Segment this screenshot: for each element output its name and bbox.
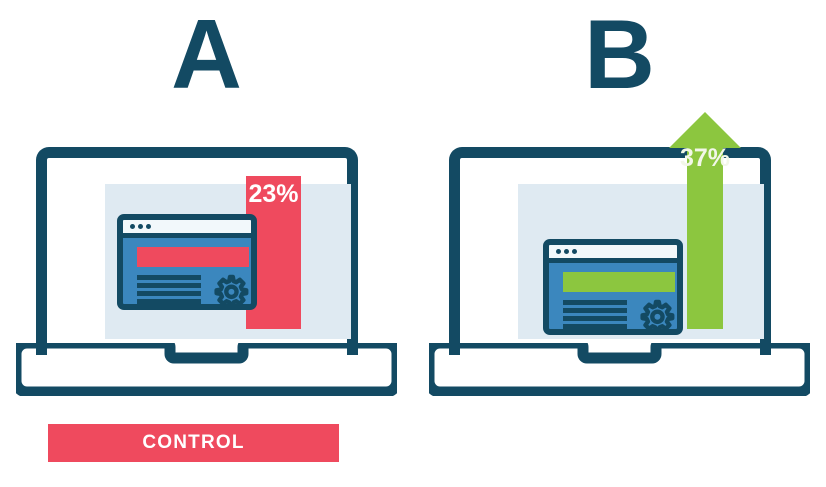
browser-dot-icon [130, 224, 135, 229]
browser-dot-icon [138, 224, 143, 229]
laptop-base-a [16, 343, 397, 396]
gear-icon-a [211, 272, 249, 310]
browser-dot-icon [556, 249, 561, 254]
laptop-icon-b: 37% [429, 147, 810, 396]
text-line [563, 332, 627, 335]
text-line [137, 307, 201, 310]
variant-tag-a[interactable]: CONTROL [48, 424, 339, 462]
ab-test-illustration: A 23% [0, 0, 826, 487]
up-arrow-icon-b: 37% [669, 112, 741, 329]
browser-titlebar-a [123, 220, 251, 238]
browser-text-lines-a [137, 275, 201, 310]
browser-dot-icon [146, 224, 151, 229]
laptop-icon-a: 23% [16, 147, 397, 396]
text-line [563, 300, 627, 305]
text-line [563, 324, 627, 329]
browser-banner-b [563, 272, 675, 292]
text-line [137, 299, 201, 304]
browser-dot-icon [572, 249, 577, 254]
metric-value-a: 23% [246, 179, 301, 209]
browser-text-lines-b [563, 300, 627, 335]
metric-value-b: 37% [669, 143, 741, 173]
variant-tag-label-a: CONTROL [142, 432, 244, 454]
text-line [137, 291, 201, 296]
text-line [563, 308, 627, 313]
text-line [563, 316, 627, 321]
variant-letter-b: B [413, 2, 826, 106]
variant-letter-a: A [0, 2, 413, 106]
laptop-base-b [429, 343, 810, 396]
browser-window-icon-a [117, 214, 257, 310]
browser-dot-icon [564, 249, 569, 254]
browser-window-icon-b [543, 239, 683, 335]
variant-panel-b: B [413, 0, 826, 487]
text-line [137, 275, 201, 280]
variant-panel-a: A 23% [0, 0, 413, 487]
browser-titlebar-b [549, 245, 677, 263]
browser-banner-a [137, 247, 249, 267]
text-line [137, 283, 201, 288]
